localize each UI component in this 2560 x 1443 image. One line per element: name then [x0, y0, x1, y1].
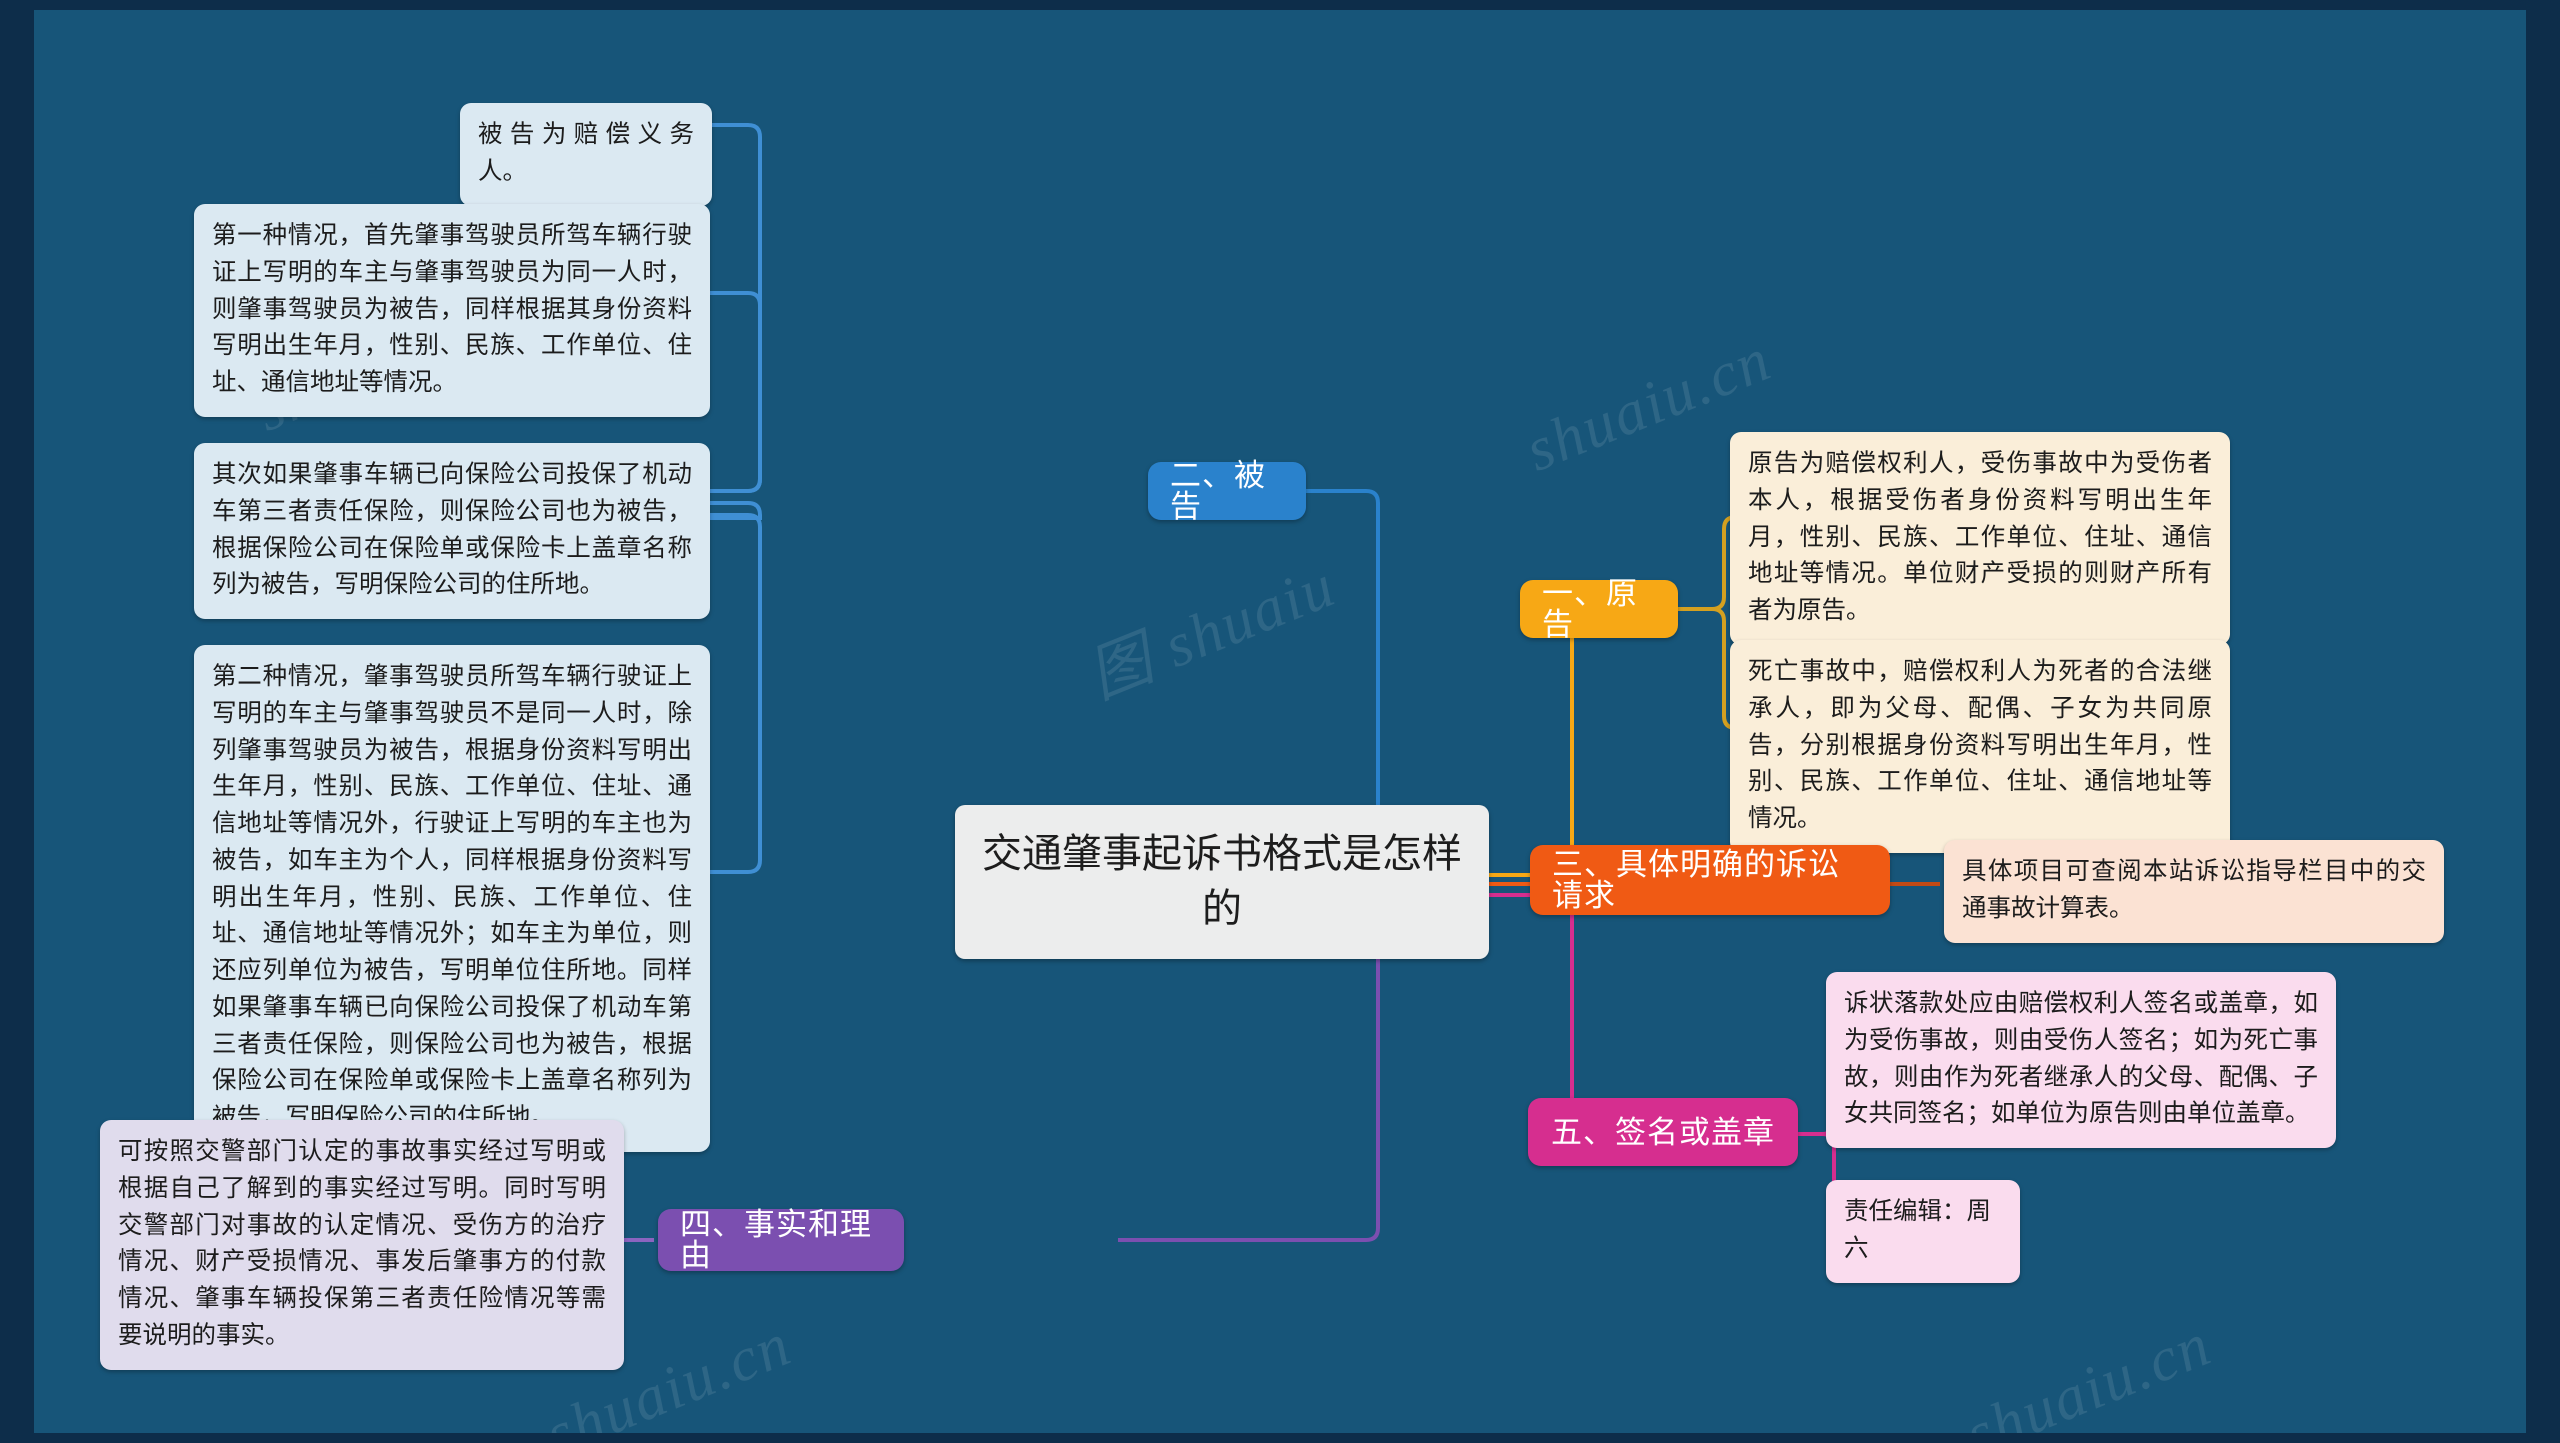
- frame-left: [0, 0, 34, 1443]
- wire-beigao-c2: [710, 293, 760, 491]
- root-node[interactable]: 交通肇事起诉书格式是怎样的: [955, 805, 1489, 959]
- leaf-beigao-4[interactable]: 第二种情况，肇事驾驶员所驾车辆行驶证上写明的车主与肇事驾驶员不是同一人时，除列肇…: [194, 645, 710, 1152]
- leaf-qingqiu-1[interactable]: 具体项目可查阅本站诉讼指导栏目中的交通事故计算表。: [1944, 840, 2444, 943]
- branch-shishi[interactable]: 四、事实和理由: [658, 1209, 904, 1271]
- mindmap-canvas: shuaiu.cn shuaiu.cn 图 shuaiu shuaiu.cn s…: [0, 0, 2560, 1443]
- leaf-beigao-1[interactable]: 被告为赔偿义务人。: [460, 103, 712, 206]
- leaf-qianming-1[interactable]: 诉状落款处应由赔偿权利人签名或盖章，如为受伤事故，则由受伤人签名；如为死亡事故，…: [1826, 972, 2336, 1148]
- leaf-shishi-1[interactable]: 可按照交警部门认定的事故事实经过写明或根据自己了解到的事实经过写明。同时写明交警…: [100, 1120, 624, 1370]
- wire-root-yuangao: [1489, 609, 1618, 875]
- frame-right: [2526, 0, 2560, 1443]
- leaf-yuangao-1[interactable]: 原告为赔偿权利人，受伤事故中为受伤者本人，根据受伤者身份资料写明出生年月，性别、…: [1730, 432, 2230, 645]
- branch-qingqiu[interactable]: 三、具体明确的诉讼请求: [1530, 845, 1890, 915]
- leaf-beigao-3[interactable]: 其次如果肇事车辆已向保险公司投保了机动车第三者责任保险，则保险公司也为被告，根据…: [194, 443, 710, 619]
- branch-yuangao[interactable]: 一、原告: [1520, 580, 1678, 638]
- branch-qianming[interactable]: 五、签名或盖章: [1528, 1098, 1798, 1166]
- leaf-yuangao-2[interactable]: 死亡事故中，赔偿权利人为死者的合法继承人，即为父母、配偶、子女为共同原告，分别根…: [1730, 640, 2230, 853]
- wire-beigao-c4: [710, 515, 760, 872]
- leaf-qianming-2[interactable]: 责任编辑：周六: [1826, 1180, 2020, 1283]
- wire-beigao-c3: [710, 503, 760, 518]
- leaf-beigao-2[interactable]: 第一种情况，首先肇事驾驶员所驾车辆行驶证上写明的车主与肇事驾驶员为同一人时，则肇…: [194, 204, 710, 417]
- wire-beigao-c1: [710, 125, 760, 491]
- frame-bottom: [0, 1433, 2560, 1443]
- frame-top: [0, 0, 2560, 10]
- watermark: shuaiu.cn: [1956, 1309, 2221, 1443]
- watermark: 图 shuaiu: [1073, 535, 1347, 715]
- branch-beigao[interactable]: 二、被告: [1148, 462, 1306, 520]
